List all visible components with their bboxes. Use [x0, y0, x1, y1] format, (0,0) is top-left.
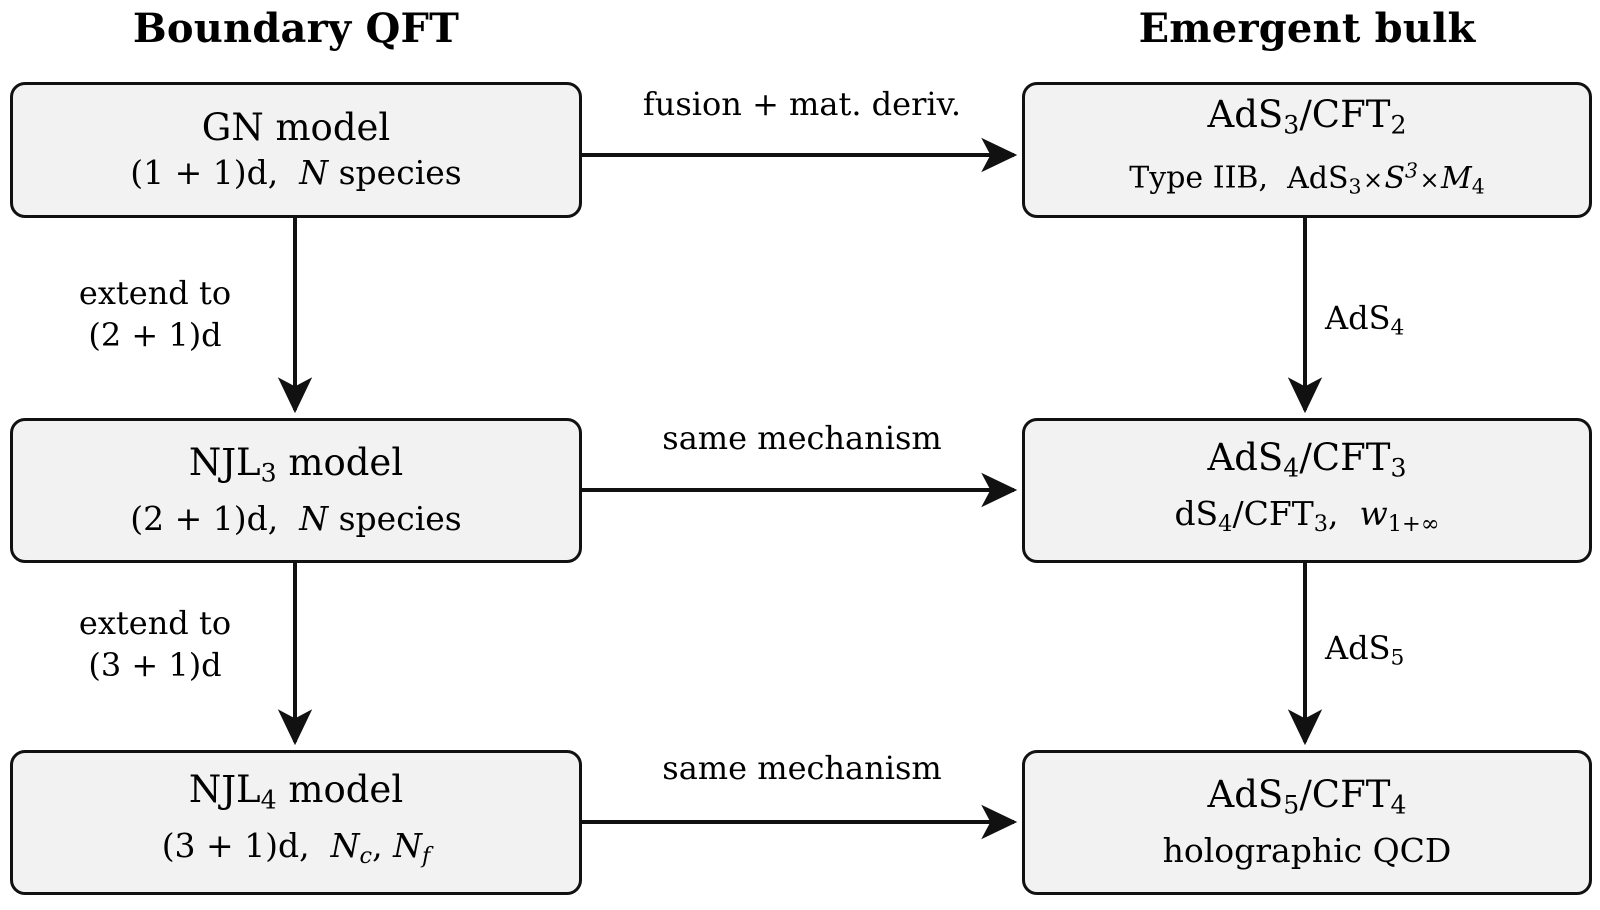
node-ads4-comma: , [1328, 494, 1339, 533]
node-ads4-cft2-sub: 3 [1314, 511, 1328, 537]
node-ads4-ds-sub: 4 [1218, 511, 1232, 537]
node-ads4-w-sub: 1+∞ [1388, 511, 1440, 537]
node-njl3-species-var: N [299, 499, 328, 538]
node-ads3-subtitle: Type IIB, AdS3×S3×M4 [1129, 148, 1484, 208]
node-ads4-w: w [1360, 494, 1388, 533]
node-ads3-ads: AdS [1208, 93, 1284, 136]
node-ads3-manifold-sub: 4 [1472, 174, 1485, 198]
edge-label-extend-to-2plus1d: extend to (2 + 1)d [30, 272, 280, 356]
node-ads3-sphere-sup: 3 [1405, 158, 1418, 182]
node-ads4-slash2: / [1232, 494, 1243, 533]
node-gn-title: GN model [202, 105, 390, 151]
node-gn-species-var: N [299, 153, 328, 192]
edge-label-extend-31-line1: extend to [30, 602, 280, 644]
diagram-canvas: Boundary QFT Emergent bulk GN model (1 +… [0, 0, 1600, 910]
node-njl4-nc-sub: c [360, 843, 373, 869]
node-ads4-ads: AdS [1208, 436, 1284, 479]
node-ads3-geom-ads: AdS [1287, 161, 1348, 196]
node-njl3-title: NJL3 model [189, 440, 403, 497]
node-ads4-cft2: CFT [1244, 494, 1314, 533]
node-njl4-base: NJL [189, 768, 261, 811]
node-ads4-subtitle: dS4/CFT3, w1+∞ [1174, 492, 1439, 546]
node-ads5-ads-sub: 5 [1283, 791, 1299, 820]
node-ads4-slash: / [1299, 436, 1311, 479]
node-njl3-base: NJL [189, 441, 261, 484]
node-ads3-cft-sub: 2 [1390, 110, 1406, 139]
node-ads5-title: AdS5/CFT4 [1208, 772, 1407, 829]
edge-label-ads4: AdS4 [1325, 298, 1485, 349]
node-ads4-ds: dS [1174, 494, 1218, 533]
node-ads5-subtitle: holographic QCD [1163, 829, 1452, 873]
column-header-emergent-bulk: Emergent bulk [1022, 6, 1592, 52]
edge-label-ads5-sub: 5 [1391, 646, 1405, 671]
edge-label-extend-to-3plus1d: extend to (3 + 1)d [30, 602, 280, 686]
node-ads3-cft2[interactable]: AdS3/CFT2 Type IIB, AdS3×S3×M4 [1022, 82, 1592, 218]
node-ads4-title: AdS4/CFT3 [1208, 435, 1407, 492]
edge-label-extend-21-line2: (2 + 1)d [30, 314, 280, 356]
node-ads3-manifold: M [1441, 161, 1472, 196]
node-ads5-slash: / [1299, 773, 1311, 816]
edge-label-same-mechanism-2: same mechanism [582, 748, 1022, 788]
edge-label-same-mechanism-1: same mechanism [582, 418, 1022, 458]
edge-label-ads5-base: AdS [1325, 629, 1391, 667]
node-ads3-cft: CFT [1312, 93, 1391, 136]
node-njl4-nf-base: N [393, 826, 422, 865]
node-njl3-species-word: species [339, 499, 462, 538]
node-ads3-type: Type IIB, [1129, 161, 1268, 196]
node-njl4-subtitle: (3 + 1)d, Nc, Nf [162, 824, 431, 878]
node-njl3-subtitle: (2 + 1)d, N species [130, 497, 461, 541]
node-njl4-nc-base: N [331, 826, 360, 865]
edge-label-fusion-mat-deriv: fusion + mat. deriv. [582, 84, 1022, 124]
node-njl3-model-word: model [288, 441, 403, 484]
edge-label-ads4-sub: 4 [1391, 316, 1405, 341]
edge-label-extend-21-line1: extend to [30, 272, 280, 314]
edge-label-ads5: AdS5 [1325, 628, 1485, 679]
times-icon: × [1362, 166, 1385, 194]
times-icon-2: × [1418, 166, 1441, 194]
node-njl3-model[interactable]: NJL3 model (2 + 1)d, N species [10, 418, 582, 563]
node-ads4-cft-sub: 3 [1390, 454, 1406, 483]
node-njl3-sub: 3 [261, 459, 277, 488]
node-ads5-cft-sub: 4 [1390, 791, 1406, 820]
node-njl3-dim: (2 + 1)d, [130, 499, 278, 538]
node-ads3-geom-ads-sub: 3 [1349, 174, 1362, 198]
edge-label-extend-31-line2: (3 + 1)d [30, 644, 280, 686]
node-njl4-dim: (3 + 1)d, [162, 826, 310, 865]
node-njl4-sub: 4 [261, 786, 277, 815]
node-njl4-nf-sub: f [422, 843, 430, 869]
node-ads3-ads-sub: 3 [1283, 110, 1299, 139]
node-ads5-cft: CFT [1312, 773, 1391, 816]
node-ads3-slash: / [1299, 93, 1311, 136]
node-njl4-title: NJL4 model [189, 767, 403, 824]
node-gn-subtitle: (1 + 1)d, N species [130, 151, 461, 195]
node-gn-species-word: species [339, 153, 462, 192]
node-njl4-model[interactable]: NJL4 model (3 + 1)d, Nc, Nf [10, 750, 582, 895]
column-header-boundary-qft: Boundary QFT [10, 6, 582, 52]
node-ads5-cft4[interactable]: AdS5/CFT4 holographic QCD [1022, 750, 1592, 895]
edge-label-ads4-base: AdS [1325, 299, 1391, 337]
node-ads5-ads: AdS [1208, 773, 1284, 816]
node-ads4-ads-sub: 4 [1283, 454, 1299, 483]
node-ads4-cft3[interactable]: AdS4/CFT3 dS4/CFT3, w1+∞ [1022, 418, 1592, 563]
node-ads3-title: AdS3/CFT2 [1208, 92, 1407, 149]
node-ads3-sphere: S [1384, 161, 1405, 196]
node-ads4-cft: CFT [1312, 436, 1391, 479]
node-gn-model[interactable]: GN model (1 + 1)d, N species [10, 82, 582, 218]
node-njl4-model-word: model [288, 768, 403, 811]
node-gn-dim: (1 + 1)d, [130, 153, 278, 192]
